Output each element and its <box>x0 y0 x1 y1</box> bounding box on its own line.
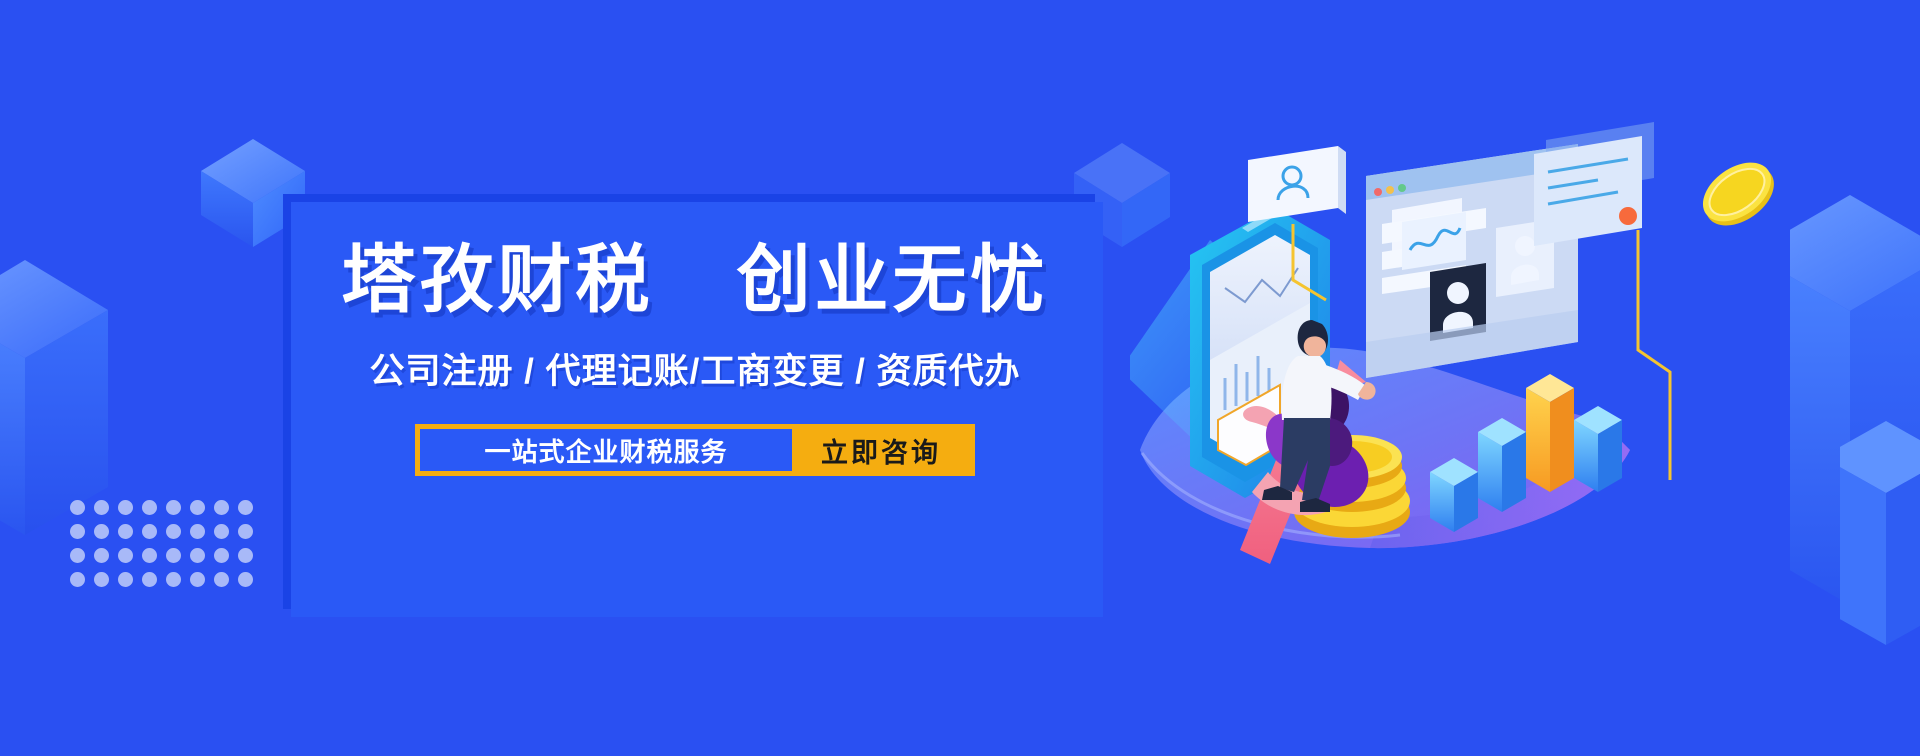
gold-coin-top-right <box>1692 150 1782 235</box>
dot <box>94 524 109 539</box>
dot <box>190 500 205 515</box>
dot <box>238 500 253 515</box>
dot <box>190 572 205 587</box>
dot <box>94 548 109 563</box>
dot <box>94 500 109 515</box>
dot <box>142 524 157 539</box>
dot <box>70 524 85 539</box>
headline-part-2: 创业无忧 <box>737 238 1049 321</box>
dot <box>118 548 133 563</box>
dot <box>166 524 181 539</box>
dot <box>238 548 253 563</box>
dot <box>70 572 85 587</box>
dot <box>238 524 253 539</box>
isometric-block-right <box>1790 185 1920 605</box>
bar-3-highlighted <box>1526 374 1574 492</box>
dot <box>142 548 157 563</box>
bar-4 <box>1574 406 1622 492</box>
dot <box>118 572 133 587</box>
document-card <box>1534 122 1654 246</box>
tagline-field: 一站式企业财税服务 <box>420 429 792 471</box>
dot <box>214 500 229 515</box>
consult-now-button[interactable]: 立即咨询 <box>792 429 970 471</box>
dot <box>190 548 205 563</box>
dot <box>190 524 205 539</box>
dot <box>142 572 157 587</box>
dot <box>214 524 229 539</box>
dot <box>238 572 253 587</box>
bar-2 <box>1478 418 1526 512</box>
line-chart-card <box>1392 198 1466 270</box>
promo-banner: 塔孜财税 创业无忧 公司注册 / 代理记账/工商变更 / 资质代办 一站式企业财… <box>0 0 1920 756</box>
dot <box>118 500 133 515</box>
isometric-business-illustration <box>1130 120 1690 580</box>
dot <box>94 572 109 587</box>
dot <box>166 500 181 515</box>
dot <box>142 500 157 515</box>
dot <box>118 524 133 539</box>
page-title: 塔孜财税 创业无忧 <box>341 242 1048 317</box>
dot <box>214 572 229 587</box>
isometric-block-left <box>0 205 140 535</box>
isometric-block-lower-right <box>1840 415 1920 645</box>
dot <box>166 548 181 563</box>
dot <box>70 548 85 563</box>
headline-part-1: 塔孜财税 <box>341 238 653 321</box>
cta-row: 一站式企业财税服务 立即咨询 <box>415 424 975 476</box>
dot <box>214 548 229 563</box>
bar-1 <box>1430 458 1478 532</box>
profile-card <box>1248 146 1346 222</box>
banner-content: 塔孜财税 创业无忧 公司注册 / 代理记账/工商变更 / 资质代办 一站式企业财… <box>295 205 1095 605</box>
dot-grid-decoration <box>70 500 262 596</box>
dot <box>166 572 181 587</box>
dot <box>70 500 85 515</box>
service-list-subtitle: 公司注册 / 代理记账/工商变更 / 资质代办 <box>369 343 1020 394</box>
